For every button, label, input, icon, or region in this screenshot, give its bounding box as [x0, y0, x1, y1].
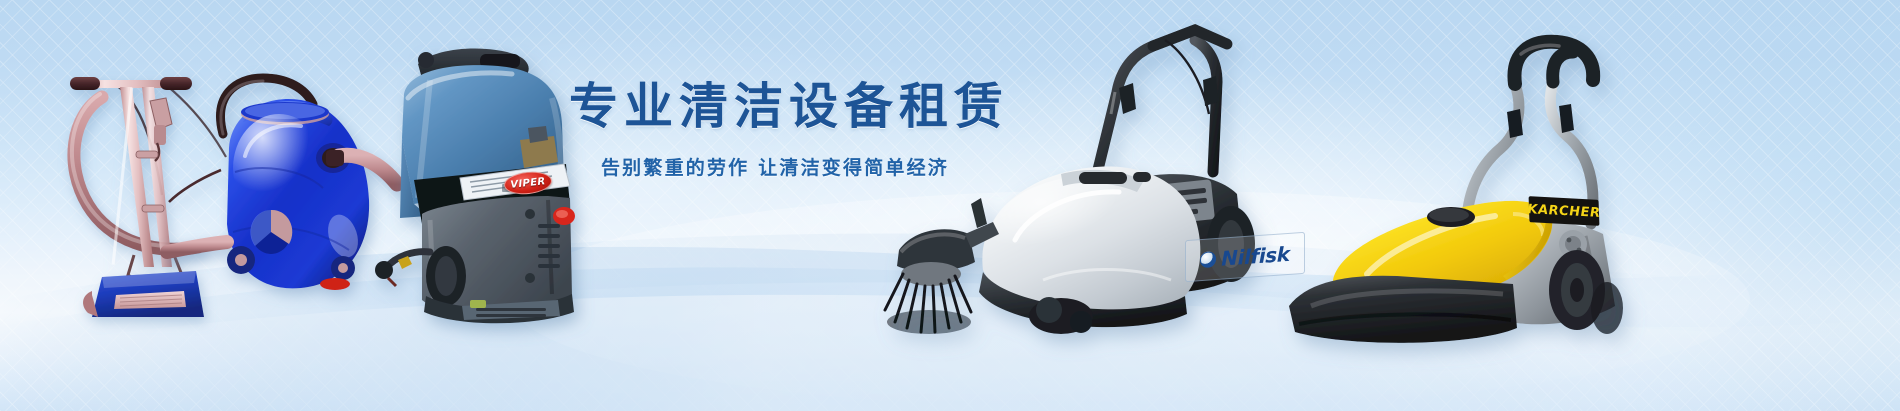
machine-yellow-sweeper	[1255, 18, 1675, 348]
headline-block: 专业清洁设备租赁 告别繁重的劳作 让清洁变得简单经济	[565, 82, 985, 180]
hero-banner: VIPER	[0, 0, 1900, 411]
banner-subheadline: 告别繁重的劳作 让清洁变得简单经济	[565, 153, 985, 180]
nilfisk-logo-icon	[1200, 251, 1216, 268]
machine-nilfisk-sweeper	[865, 22, 1255, 342]
yellow-sweeper-brand-text: KARCHER	[1527, 202, 1600, 221]
nilfisk-brand-badge: Nilfisk	[1185, 232, 1305, 282]
nilfisk-brand-text: Nilfisk	[1221, 242, 1289, 271]
banner-headline: 专业清洁设备租赁	[569, 82, 985, 131]
viper-brand-text: VIPER	[510, 176, 546, 191]
yellow-sweeper-brand-badge: KARCHER	[1529, 196, 1600, 226]
